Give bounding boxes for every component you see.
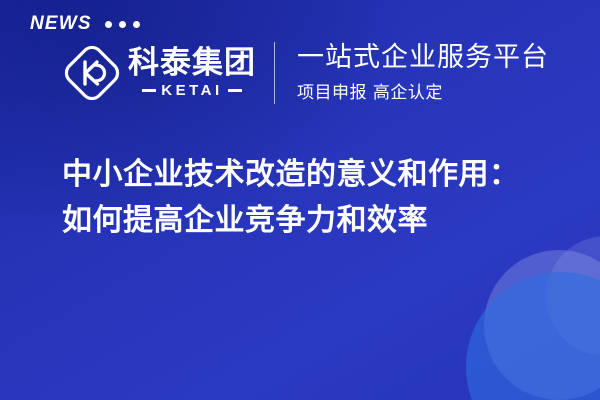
- decorative-circle-violet-icon: [484, 250, 600, 400]
- article-headline: 中小企业技术改造的意义和作用： 如何提高企业竞争力和效率: [62, 152, 562, 243]
- news-dot-icon: [133, 21, 140, 28]
- brand-name-block: 科泰集团 KETAI: [128, 47, 256, 99]
- brand-name-en: KETAI: [161, 82, 222, 99]
- brand-lockup: 科泰集团 KETAI 一站式企业服务平台 项目申报 高企认定: [62, 42, 549, 104]
- tagline-sub: 项目申报 高企认定: [297, 78, 549, 103]
- news-dots-icon: [105, 21, 140, 28]
- news-banner: NEWS 科泰集团 KETAI: [0, 0, 600, 400]
- decorative-circle-soft-icon: [546, 236, 600, 356]
- brand-divider: [274, 42, 275, 104]
- brand-rule-left-icon: [142, 89, 156, 92]
- tagline-block: 一站式企业服务平台 项目申报 高企认定: [297, 43, 549, 103]
- news-label: NEWS: [30, 13, 92, 35]
- headline-line-1: 中小企业技术改造的意义和作用：: [62, 152, 562, 198]
- news-eyebrow: NEWS: [30, 13, 140, 35]
- news-dot-icon: [119, 21, 126, 28]
- brand-name-en-row: KETAI: [142, 82, 241, 99]
- brand-rule-right-icon: [228, 89, 242, 92]
- brand-name-cn: 科泰集团: [128, 47, 256, 80]
- tagline-main: 一站式企业服务平台: [297, 43, 549, 73]
- ketai-diamond-monogram-icon: [62, 43, 122, 103]
- news-dot-icon: [105, 21, 112, 28]
- headline-line-2: 如何提高企业竞争力和效率: [62, 198, 562, 244]
- decorative-circle-bright-icon: [466, 272, 600, 400]
